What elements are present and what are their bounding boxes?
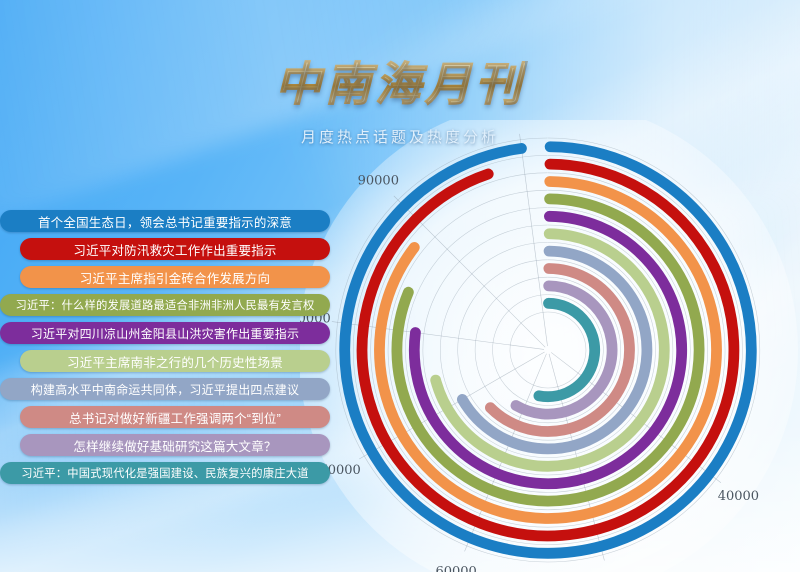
legend-item[interactable]: 习近平主席南非之行的几个历史性场景 — [20, 350, 330, 372]
infographic-stage: 400005000060000700008000090000100000 中南海… — [0, 0, 800, 572]
page-subtitle: 月度热点话题及热度分析 — [0, 126, 800, 147]
legend-item-label: 总书记对做好新疆工作强调两个“到位” — [69, 408, 281, 427]
legend-item-label: 习近平对四川凉山州金阳县山洪灾害作出重要指示 — [31, 325, 299, 342]
legend-item-label: 习近平：什么样的发展道路最适合非洲非洲人民最有发言权 — [16, 297, 315, 313]
legend-item-label: 首个全国生态日，领会总书记重要指示的深意 — [38, 212, 292, 231]
legend-item[interactable]: 习近平对防汛救灾工作作出重要指示 — [20, 238, 330, 260]
title-block: 中南海月刊 月度热点话题及热度分析 — [0, 48, 800, 147]
legend-item[interactable]: 习近平主席指引金砖合作发展方向 — [20, 266, 330, 288]
legend-item[interactable]: 怎样继续做好基础研究这篇大文章？ — [20, 434, 330, 456]
polar-radial-bar-chart: 400005000060000700008000090000100000 — [300, 120, 800, 572]
legend-item[interactable]: 习近平：中国式现代化是强国建设、民族复兴的康庄大道 — [0, 462, 330, 484]
legend-item-label: 习近平主席指引金砖合作发展方向 — [80, 268, 271, 287]
angular-tick-label: 40000 — [718, 489, 759, 504]
angular-tick-label: 60000 — [435, 565, 476, 572]
legend-item[interactable]: 习近平：什么样的发展道路最适合非洲非洲人民最有发言权 — [0, 294, 330, 316]
legend-item-label: 习近平对防汛救灾工作作出重要指示 — [73, 240, 276, 259]
legend-item-label: 构建高水平中南命运共同体，习近平提出四点建议 — [31, 381, 299, 398]
legend-item[interactable]: 构建高水平中南命运共同体，习近平提出四点建议 — [0, 378, 330, 400]
legend-item[interactable]: 习近平对四川凉山州金阳县山洪灾害作出重要指示 — [0, 322, 330, 344]
angular-tick-label: 90000 — [358, 173, 399, 188]
legend-item[interactable]: 总书记对做好新疆工作强调两个“到位” — [20, 406, 330, 428]
polar-chart-panel: 400005000060000700008000090000100000 — [300, 120, 800, 572]
legend-item-label: 怎样继续做好基础研究这篇大文章？ — [73, 436, 276, 455]
legend-item-label: 习近平主席南非之行的几个历史性场景 — [67, 352, 283, 371]
page-title: 中南海月刊 — [275, 48, 525, 114]
legend: 首个全国生态日，领会总书记重要指示的深意习近平对防汛救灾工作作出重要指示习近平主… — [0, 210, 340, 490]
legend-item[interactable]: 首个全国生态日，领会总书记重要指示的深意 — [0, 210, 330, 232]
legend-item-label: 习近平：中国式现代化是强国建设、民族复兴的康庄大道 — [21, 465, 308, 481]
